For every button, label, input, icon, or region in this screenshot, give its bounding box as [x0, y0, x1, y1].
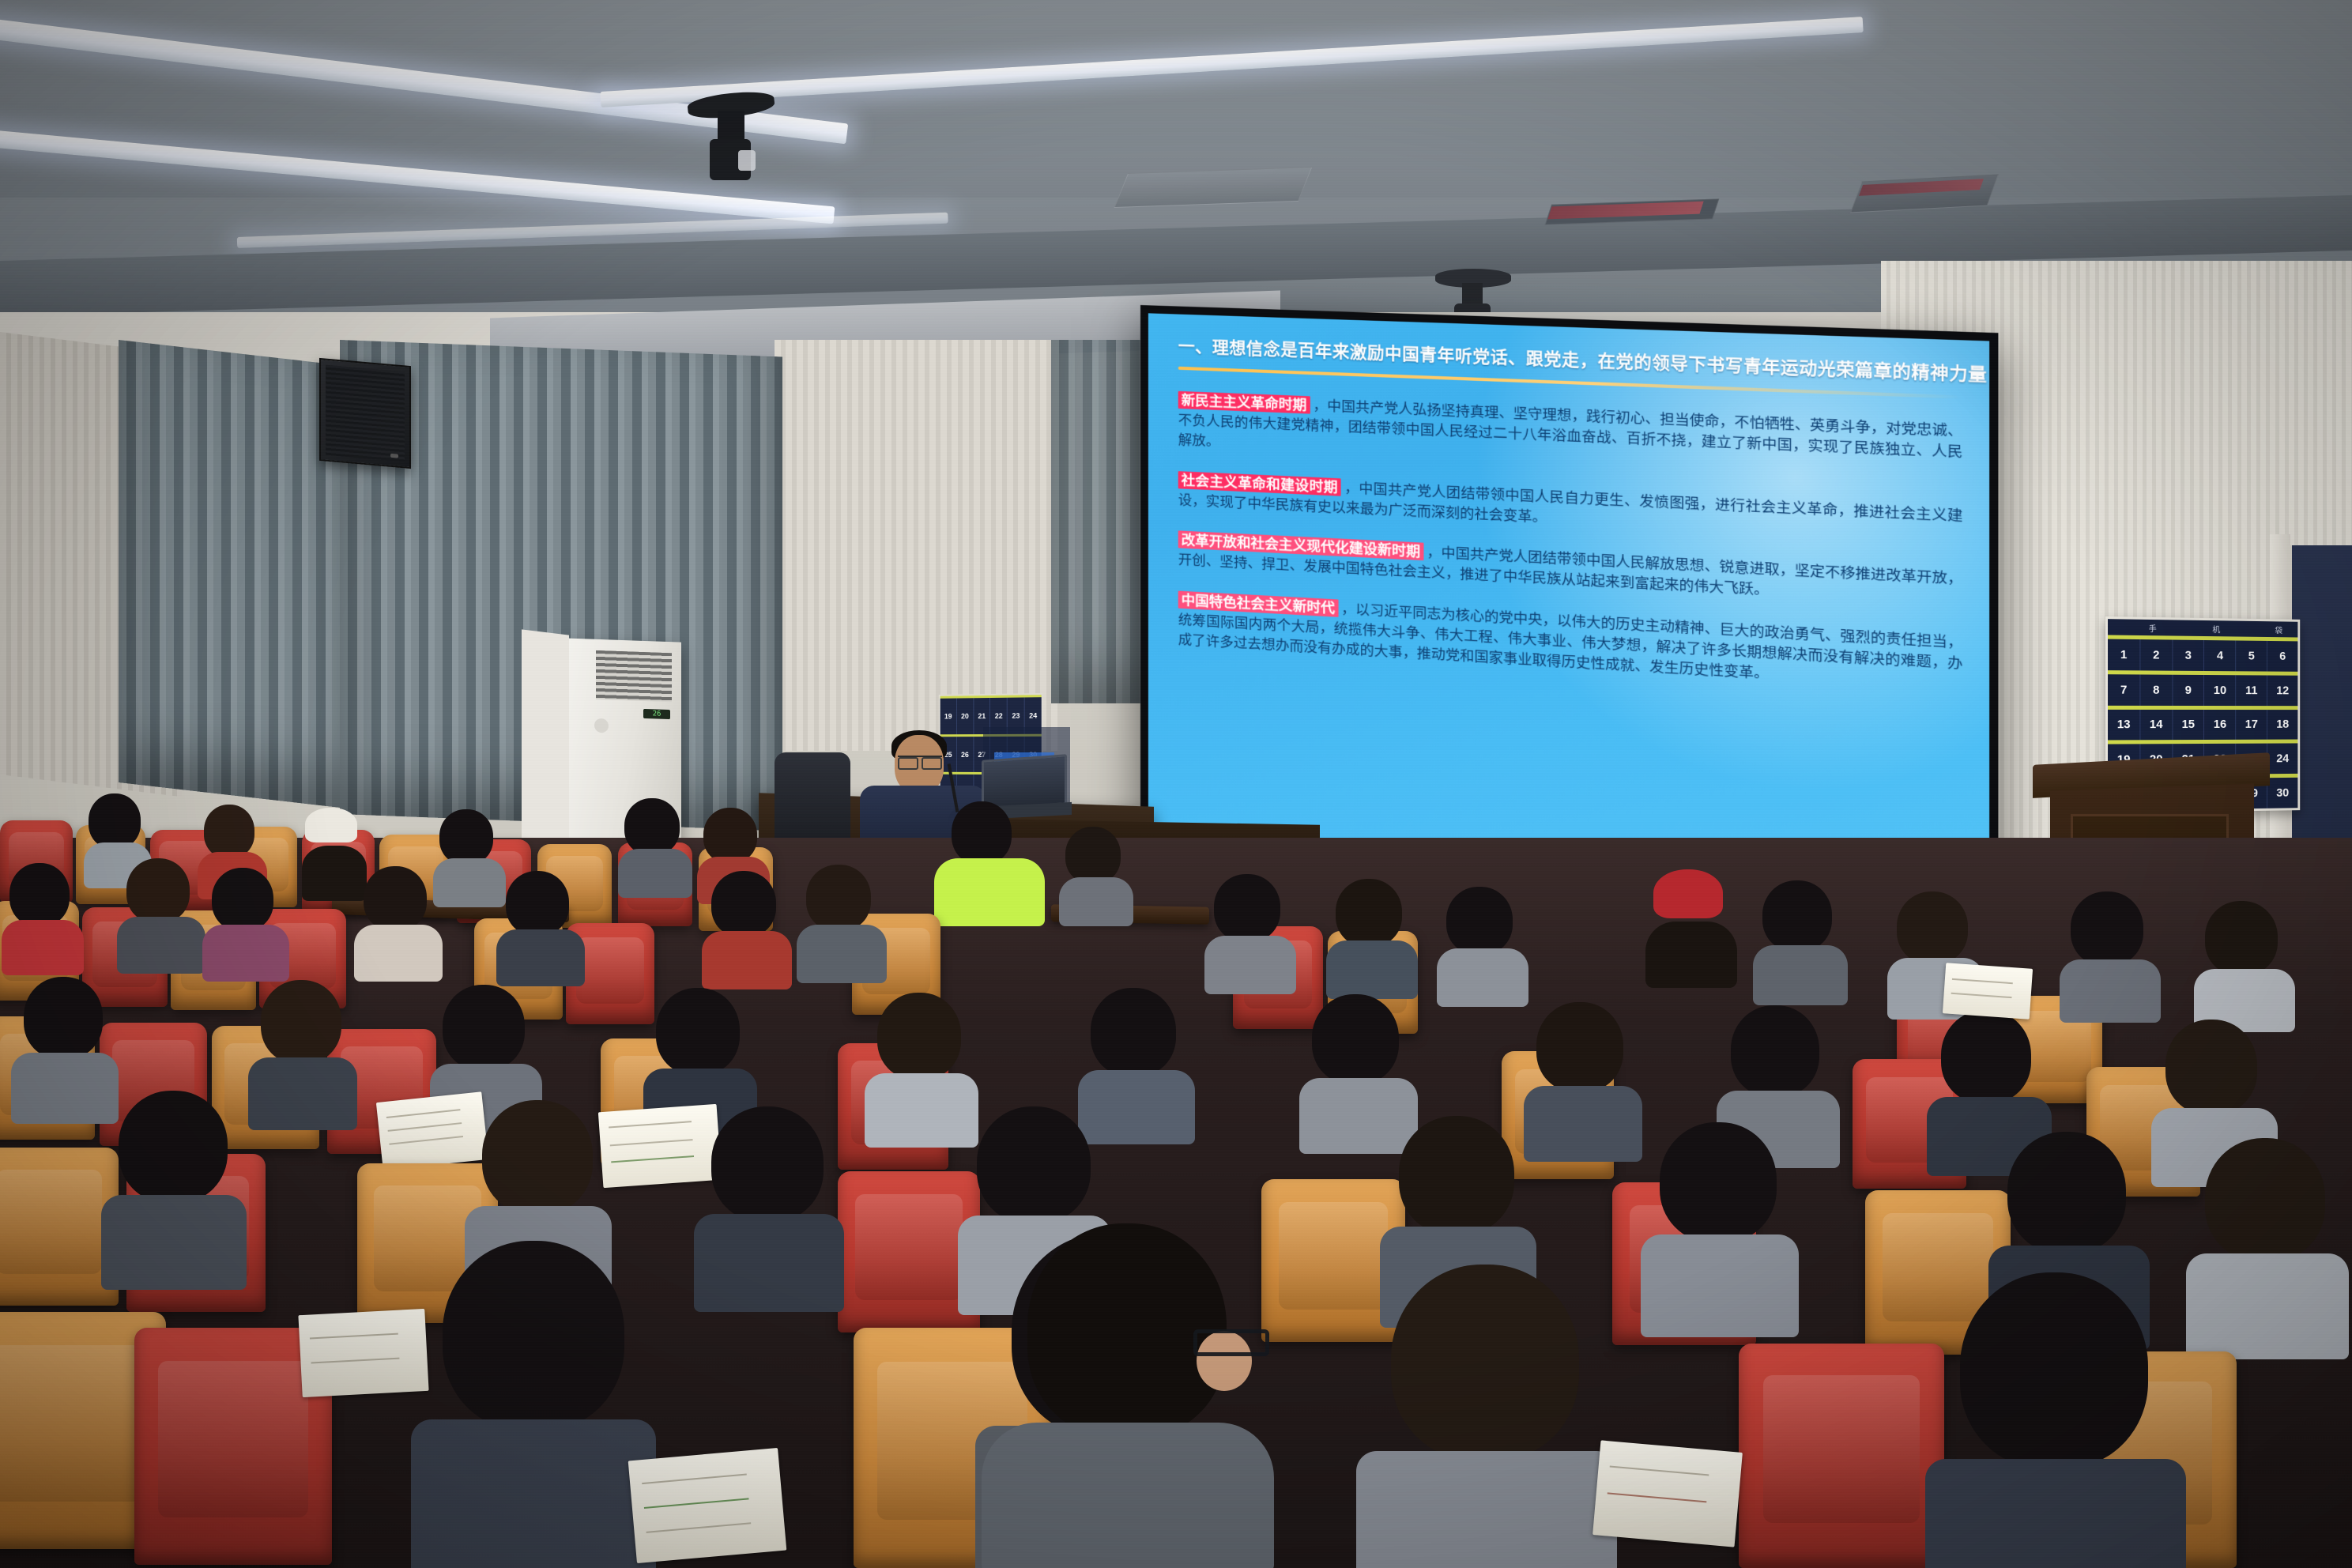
audience-member: [1536, 1002, 1631, 1133]
audience-member: [1065, 827, 1127, 915]
audience-member: [1214, 874, 1287, 978]
torso: [982, 1423, 1274, 1568]
board-cell[interactable]: 18: [2267, 710, 2297, 740]
wall-speaker-icon: [319, 358, 411, 469]
board-cell[interactable]: 16: [2204, 710, 2236, 741]
board-row: 1 2 3 4 5 6: [2108, 635, 2297, 671]
board-cell[interactable]: 7: [2108, 674, 2140, 705]
board-row: 7 8 9 10 11 12: [2108, 670, 2297, 706]
wall-column: [522, 629, 569, 872]
ceiling-camera-icon: [680, 93, 782, 180]
air-conditioner-logo: [594, 718, 609, 733]
open-booklet: [1592, 1440, 1743, 1547]
board-cell[interactable]: 30: [2267, 778, 2297, 808]
board-row: 13 14 15 16 17 18: [2108, 705, 2297, 740]
board-cell[interactable]: 13: [2108, 709, 2140, 740]
board-cell[interactable]: 19: [940, 699, 957, 734]
board-cell[interactable]: 5: [2236, 640, 2267, 671]
audience-member: [24, 977, 111, 1100]
audience-member: [806, 865, 877, 967]
open-booklet: [628, 1448, 787, 1563]
auditorium-seat[interactable]: [1739, 1344, 1944, 1568]
slide-paragraph: 新民主主义革命时期，中国共产党人弘扬坚持真理、坚守理想，践行初心、担当使命，不怕…: [1178, 390, 1963, 484]
audience-member: [656, 988, 748, 1116]
audience-member: [1399, 1116, 1524, 1288]
board-header-cell: 袋: [2275, 624, 2284, 635]
audience-member: [1960, 1272, 2165, 1568]
audience-member: [711, 1106, 833, 1276]
audience-member: [1391, 1265, 1596, 1568]
audience-member: [1731, 1005, 1827, 1138]
audience-member: [1312, 994, 1407, 1125]
audience-member: [624, 798, 686, 887]
audience-member-neon-jacket: [945, 801, 1032, 920]
board-cell[interactable]: 6: [2267, 641, 2297, 672]
audience-member: [364, 866, 433, 967]
eyeglasses-icon: [1193, 1329, 1269, 1356]
audience-member: [2165, 1020, 2265, 1155]
audience-member: [126, 858, 196, 959]
audience-member: [1762, 880, 1838, 989]
open-booklet: [598, 1104, 722, 1188]
audience-member: [711, 871, 782, 974]
window-curtain: [1051, 340, 1154, 703]
board-cell[interactable]: 9: [2173, 675, 2204, 706]
lecture-hall-photo: 26 一、理想信念是百年来激励中国青年听党话、跟党走，在党的领导下书写青年运动光…: [0, 0, 2352, 1568]
slide-paragraph: 中国特色社会主义新时代，以习近平同志为核心的党中央，以伟大的历史主动精神、巨大的…: [1178, 590, 1963, 695]
board-cell[interactable]: 20: [957, 698, 974, 734]
open-booklet: [1943, 963, 2033, 1020]
audience-member: [261, 980, 349, 1105]
board-cell[interactable]: 10: [2204, 675, 2236, 706]
audience-member: [2205, 901, 2284, 1015]
board-cell[interactable]: 2: [2140, 639, 2173, 670]
board-cell[interactable]: 3: [2173, 640, 2204, 671]
board-cell[interactable]: 8: [2140, 674, 2173, 705]
audience-member: [439, 809, 499, 898]
audience-member: [212, 868, 280, 967]
air-conditioner-vent: [596, 650, 672, 702]
board-cell[interactable]: 12: [2267, 675, 2297, 705]
board-cell[interactable]: 24: [2267, 744, 2297, 775]
audience-member: [506, 871, 575, 972]
left-wall-panel: [775, 340, 1059, 751]
audience-member: [443, 1241, 640, 1568]
audience-member: [119, 1091, 237, 1257]
board-cell[interactable]: 11: [2236, 675, 2267, 706]
audience-member: [1941, 1010, 2039, 1144]
board-header-cell: 机: [2212, 623, 2222, 635]
board-cell[interactable]: 17: [2236, 710, 2267, 741]
audience-member: [9, 863, 76, 961]
audience-member: [1446, 887, 1519, 991]
audience-member: [2071, 891, 2150, 1005]
audience-member: [877, 993, 969, 1121]
audience-member: [1660, 1122, 1786, 1296]
audience-member: [2205, 1138, 2335, 1315]
audience-member-white-cap: [305, 808, 364, 893]
board-header-cell: 手: [2149, 621, 2159, 633]
board-cell[interactable]: 14: [2140, 710, 2173, 741]
audience-member: [443, 985, 533, 1111]
open-booklet: [376, 1091, 488, 1170]
slide-paragraph-tag: 新民主主义革命时期: [1178, 391, 1310, 414]
board-cell[interactable]: 4: [2204, 640, 2236, 671]
ceiling-panel: [1114, 167, 1312, 208]
audience-member: [1091, 988, 1184, 1118]
audience-member-foreground: [1013, 1223, 1242, 1568]
audience-member: [1336, 879, 1408, 983]
air-conditioner-display: 26: [643, 709, 670, 719]
board-cell[interactable]: 1: [2108, 639, 2140, 671]
slide-heading: 一、理想信念是百年来激励中国青年听党话、跟党走，在党的领导下书写青年运动光荣篇章…: [1178, 337, 1963, 386]
board-cell[interactable]: 15: [2173, 710, 2204, 741]
audience-member-red-cap: [1653, 869, 1729, 980]
eyeglasses-icon: [898, 756, 942, 765]
open-booklet: [298, 1309, 428, 1397]
